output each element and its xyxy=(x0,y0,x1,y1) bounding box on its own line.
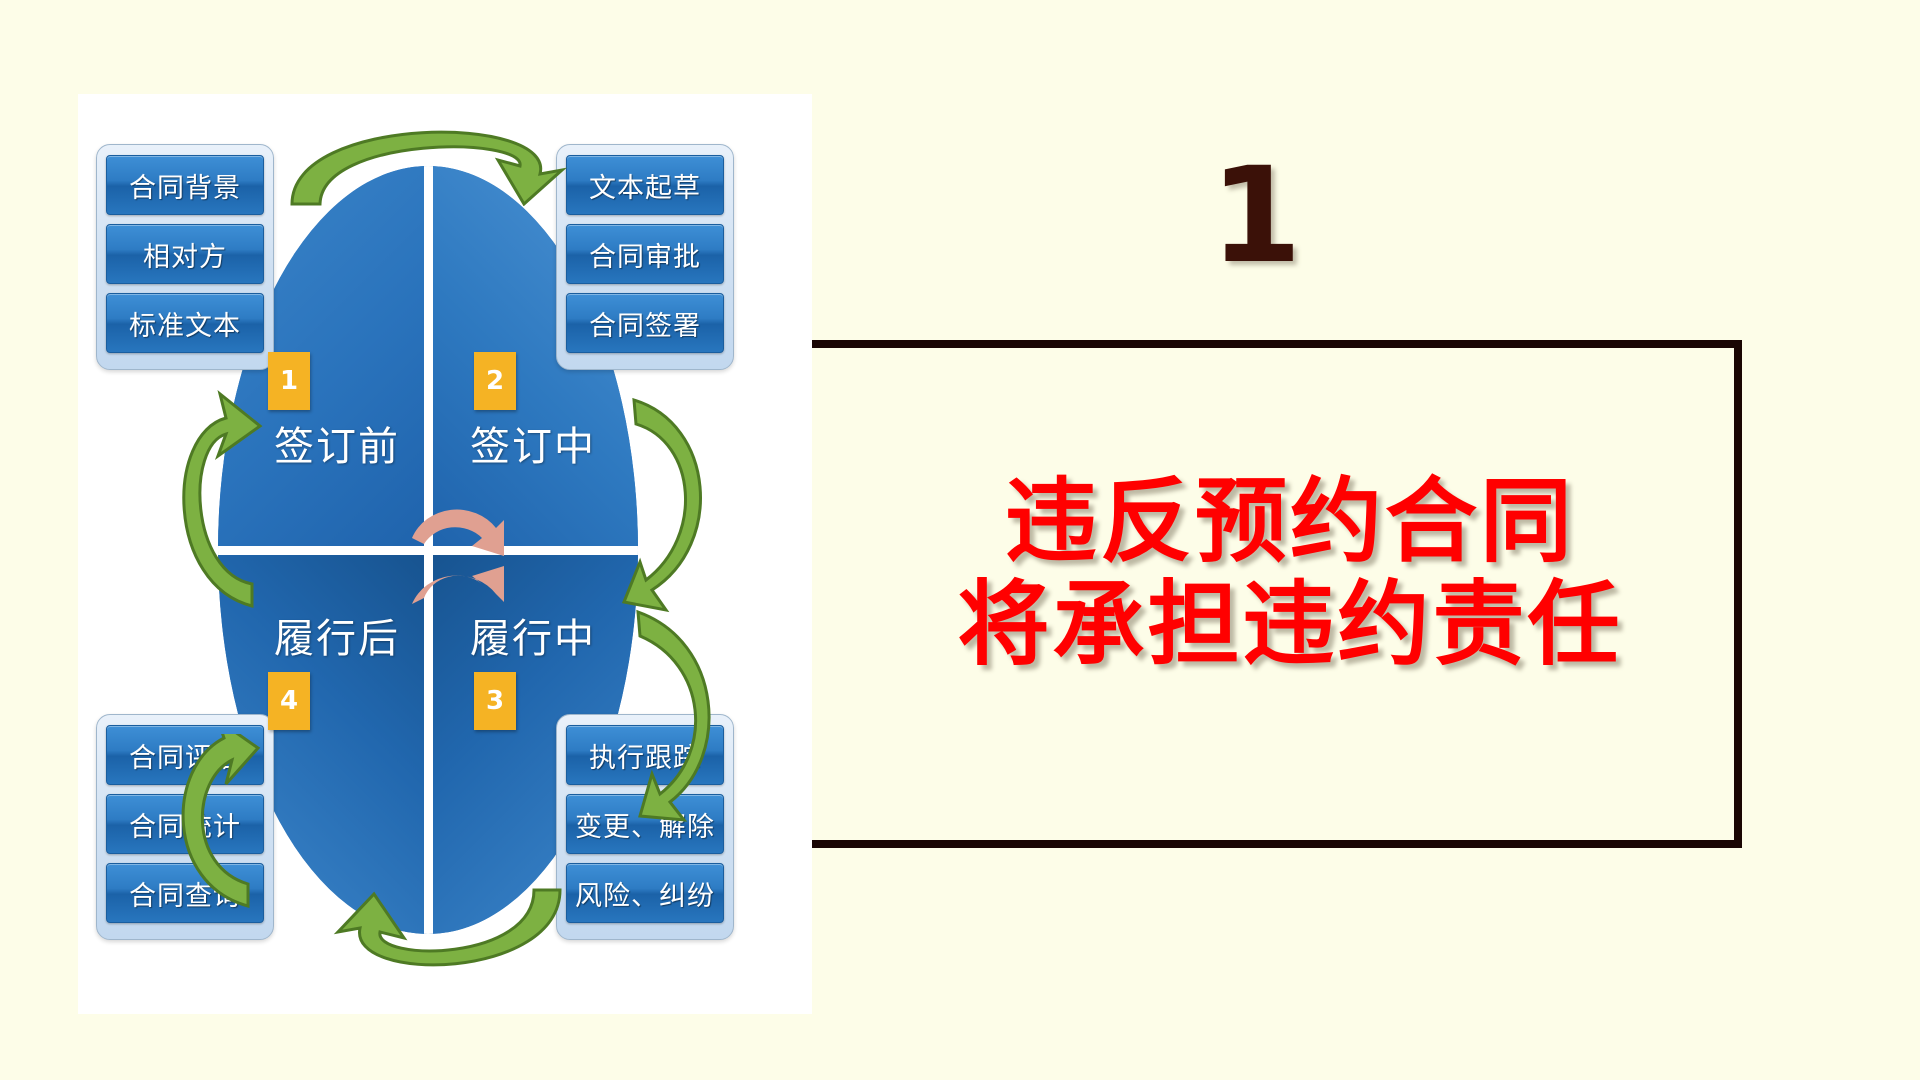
center-cycle-arrows-icon xyxy=(400,476,520,624)
badge-1: 1 xyxy=(268,352,310,410)
callout-line-2: 将承担违约责任 xyxy=(880,573,1700,676)
chip-standard-text[interactable]: 标准文本 xyxy=(106,293,264,353)
badge-2: 2 xyxy=(474,352,516,410)
left-lower-arc-arrow-icon xyxy=(152,734,262,914)
quadrant-label-post-performance: 履行后 xyxy=(274,606,400,664)
quadrant-label-during-performance: 履行中 xyxy=(470,606,596,664)
chip-counterparty[interactable]: 相对方 xyxy=(106,224,264,284)
chip-contract-signing[interactable]: 合同签署 xyxy=(566,293,724,353)
group-panel-top-left: 合同背景 相对方 标准文本 xyxy=(96,144,274,370)
callout-text: 违反预约合同 将承担违约责任 xyxy=(880,470,1700,676)
contract-lifecycle-diagram: 签订前 签订中 履行中 履行后 1 2 3 4 合同背景 相对方 标准文本 文本… xyxy=(78,94,812,1014)
callout-line-1: 违反预约合同 xyxy=(880,470,1700,573)
left-upper-arc-arrow-icon xyxy=(156,384,266,614)
group-panel-top-right: 文本起草 合同审批 合同签署 xyxy=(556,144,734,370)
bottom-arc-arrow-icon xyxy=(308,884,608,1004)
badge-4: 4 xyxy=(268,672,310,730)
chip-text-drafting[interactable]: 文本起草 xyxy=(566,155,724,215)
quadrant-label-during-signing: 签订中 xyxy=(470,414,596,472)
right-lower-arc-arrow-icon xyxy=(618,606,748,826)
chip-contract-approval[interactable]: 合同审批 xyxy=(566,224,724,284)
right-upper-arc-arrow-icon xyxy=(618,384,738,614)
slide-number: 1 xyxy=(1210,150,1302,282)
chip-contract-background[interactable]: 合同背景 xyxy=(106,155,264,215)
badge-3: 3 xyxy=(474,672,516,730)
quadrant-label-pre-signing: 签订前 xyxy=(274,414,400,472)
